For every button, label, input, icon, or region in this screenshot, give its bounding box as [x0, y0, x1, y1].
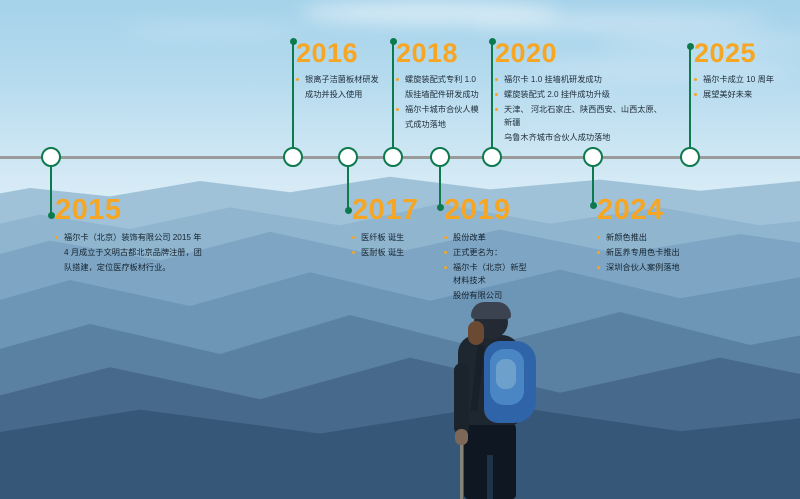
milestone-bullet: 新医养专用色卡推出 [597, 246, 717, 259]
milestone-bullet-list-2020: 福尔卡 1.0 挂墙机研发成功螺旋装配式 2.0 挂件成功升级天津、 河北石家庄… [495, 73, 670, 144]
milestone-2015[interactable]: 2015福尔卡（北京）装饰有限公司 2015 年4 月成立于文明古都北京品牌注册… [55, 196, 230, 276]
timeline-node-2020[interactable] [482, 147, 502, 167]
hiker-hair [468, 321, 484, 345]
milestone-bullet: 成功并投入使用 [296, 88, 388, 101]
milestone-bullet: 螺旋装配式 2.0 挂件成功升级 [495, 88, 670, 101]
milestone-bullet: 福尔卡（北京）装饰有限公司 2015 年 [55, 231, 230, 244]
milestone-year-label-2019: 2019 [444, 196, 530, 225]
milestone-2020[interactable]: 2020福尔卡 1.0 挂墙机研发成功螺旋装配式 2.0 挂件成功升级天津、 河… [495, 40, 670, 146]
milestone-bullet-list-2018: 螺旋装配式专利 1.0版挂墙配件研发成功福尔卡城市合伙人模式成功落地 [396, 73, 494, 131]
timeline-node-2017[interactable] [338, 147, 358, 167]
milestone-2018[interactable]: 2018螺旋装配式专利 1.0版挂墙配件研发成功福尔卡城市合伙人模式成功落地 [396, 40, 494, 133]
milestone-bullet: 医纤板 诞生 [352, 231, 432, 244]
milestone-2019[interactable]: 2019股份改革正式更名为：福尔卡（北京）新型材料技术股份有限公司 [444, 196, 530, 304]
milestone-bullet-list-2017: 医纤板 诞生医耐板 诞生 [352, 231, 432, 259]
milestone-bullet: 版挂墙配件研发成功 [396, 88, 494, 101]
milestone-bullet: 天津、 河北石家庄、陕西西安、山西太原、新疆 [495, 103, 670, 129]
milestone-year-label-2016: 2016 [296, 40, 388, 67]
milestone-year-label-2024: 2024 [597, 196, 717, 225]
milestone-2025[interactable]: 2025福尔卡成立 10 周年展望美好未来 [694, 40, 794, 103]
timeline-stem-2016 [292, 41, 295, 156]
milestone-bullet: 展望美好未来 [694, 88, 794, 101]
timeline-stem-dot-2017 [345, 207, 352, 214]
milestone-year-label-2018: 2018 [396, 40, 494, 67]
timeline-node-2018[interactable] [383, 147, 403, 167]
milestone-2016[interactable]: 2016银离子洁菌板材研发成功并投入使用 [296, 40, 388, 103]
milestone-bullet: 股份有限公司 [444, 289, 530, 302]
timeline-infographic: 2015福尔卡（北京）装饰有限公司 2015 年4 月成立于文明古都北京品牌注册… [0, 0, 800, 499]
hiker-leg-gap [487, 455, 493, 499]
cloud-shape [470, 14, 770, 30]
milestone-bullet: 深圳合伙人案例落地 [597, 261, 717, 274]
milestone-2017[interactable]: 2017医纤板 诞生医耐板 诞生 [352, 196, 432, 261]
hiker-trekking-pole [460, 441, 463, 499]
milestone-bullet: 福尔卡（北京）新型材料技术 [444, 261, 530, 287]
timeline-node-2024[interactable] [583, 147, 603, 167]
milestone-year-label-2017: 2017 [352, 196, 432, 225]
timeline-node-2019[interactable] [430, 147, 450, 167]
timeline-node-2016[interactable] [283, 147, 303, 167]
hiker-hand [455, 429, 468, 445]
timeline-stem-dot-2019 [437, 204, 444, 211]
cloud-shape [120, 24, 300, 36]
milestone-bullet-list-2015: 福尔卡（北京）装饰有限公司 2015 年4 月成立于文明古都北京品牌注册，团队搭… [55, 231, 230, 274]
milestone-bullet: 队搭建，定位医疗板材行业。 [55, 261, 230, 274]
milestone-bullet-list-2024: 新颜色推出新医养专用色卡推出深圳合伙人案例落地 [597, 231, 717, 274]
milestone-2024[interactable]: 2024新颜色推出新医养专用色卡推出深圳合伙人案例落地 [597, 196, 717, 276]
timeline-stem-dot-2025 [687, 43, 694, 50]
milestone-bullet-list-2019: 股份改革正式更名为：福尔卡（北京）新型材料技术股份有限公司 [444, 231, 530, 302]
milestone-bullet: 银离子洁菌板材研发 [296, 73, 388, 86]
milestone-bullet: 股份改革 [444, 231, 530, 244]
timeline-node-2015[interactable] [41, 147, 61, 167]
timeline-stem-2025 [689, 46, 692, 156]
milestone-bullet: 医耐板 诞生 [352, 246, 432, 259]
timeline-stem-2018 [392, 41, 395, 156]
hiker-cap [471, 302, 511, 319]
milestone-bullet: 福尔卡成立 10 周年 [694, 73, 794, 86]
timeline-node-2025[interactable] [680, 147, 700, 167]
hiker-backpack-pocket [496, 359, 516, 389]
hiker-figure [430, 305, 560, 499]
milestone-bullet: 新颜色推出 [597, 231, 717, 244]
milestone-year-label-2025: 2025 [694, 40, 794, 67]
hiker-arm [454, 363, 469, 435]
milestone-bullet: 福尔卡城市合伙人模 [396, 103, 494, 116]
milestone-bullet: 螺旋装配式专利 1.0 [396, 73, 494, 86]
milestone-year-label-2020: 2020 [495, 40, 670, 67]
timeline-stem-dot-2015 [48, 212, 55, 219]
milestone-bullet: 式成功落地 [396, 118, 494, 131]
milestone-bullet: 4 月成立于文明古都北京品牌注册，团 [55, 246, 230, 259]
timeline-stem-dot-2024 [590, 202, 597, 209]
milestone-year-label-2015: 2015 [55, 196, 230, 225]
milestone-bullet-list-2016: 银离子洁菌板材研发成功并投入使用 [296, 73, 388, 101]
milestone-bullet-list-2025: 福尔卡成立 10 周年展望美好未来 [694, 73, 794, 101]
milestone-bullet: 乌鲁木齐城市合伙人成功落地 [495, 131, 670, 144]
milestone-bullet: 正式更名为： [444, 246, 530, 259]
milestone-bullet: 福尔卡 1.0 挂墙机研发成功 [495, 73, 670, 86]
